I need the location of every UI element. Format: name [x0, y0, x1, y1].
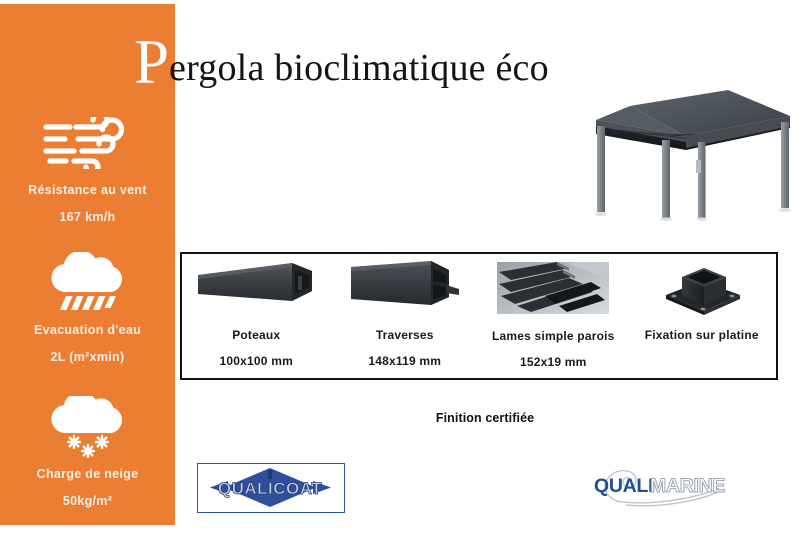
product-dimension: 148x119 mm: [368, 354, 441, 368]
lames-simple-parois-photo: [479, 259, 628, 317]
spec-value: 2L (m²xmin): [0, 350, 175, 364]
pergola-hero-image: [568, 68, 794, 236]
product-name: Lames simple parois: [492, 327, 615, 346]
page-title-rest: ergola bioclimatique éco: [169, 49, 549, 87]
svg-text:QUALI: QUALI: [594, 475, 653, 497]
page-title-initial: P: [134, 31, 169, 94]
product-name: Poteaux: [232, 326, 280, 345]
traverse-profile-photo: [331, 258, 480, 316]
product-dimension: 100x100 mm: [220, 354, 293, 368]
spec-label: Résistance au vent: [0, 183, 175, 197]
snow-cloud-icon: [0, 396, 175, 458]
product-traverses: Traverses 148x119 mm: [331, 254, 480, 378]
certification-heading: Finition certifiée: [180, 411, 790, 425]
spec-wind-resistance: Résistance au vent 167 km/h: [0, 112, 175, 224]
spec-water-evacuation: Evacuation d'eau 2L (m²xmin): [0, 252, 175, 364]
product-fixation-platine: Fixation sur platine: [628, 254, 777, 378]
spec-value: 50kg/m²: [0, 494, 175, 508]
product-lames-simple-parois: Lames simple parois 152x19 mm: [479, 254, 628, 378]
spec-label: Charge de neige: [0, 467, 175, 481]
svg-text:MARINE: MARINE: [650, 475, 725, 497]
product-dimension: 152x19 mm: [520, 355, 587, 369]
product-name: Traverses: [376, 326, 434, 345]
product-name: Fixation sur platine: [645, 326, 759, 345]
spec-value: 167 km/h: [0, 210, 175, 224]
spec-snow-load: Charge de neige 50kg/m²: [0, 396, 175, 508]
page-title: Pergola bioclimatique éco: [134, 28, 549, 90]
poteau-profile-photo: [182, 258, 331, 316]
qualicoat-logo: QUALICOAT: [197, 463, 345, 513]
poster-canvas: Résistance au vent 167 km/h Evacuation d…: [0, 0, 800, 534]
fixation-platine-photo: [628, 258, 777, 316]
svg-text:QUALICOAT: QUALICOAT: [218, 479, 322, 498]
rain-cloud-icon: [0, 252, 175, 314]
qualimarine-logo: QUALI MARINE: [588, 458, 743, 510]
components-panel: Poteaux 100x100 mm: [180, 252, 778, 380]
spec-label: Evacuation d'eau: [0, 323, 175, 337]
wind-icon: [0, 112, 175, 174]
product-poteaux: Poteaux 100x100 mm: [182, 254, 331, 378]
